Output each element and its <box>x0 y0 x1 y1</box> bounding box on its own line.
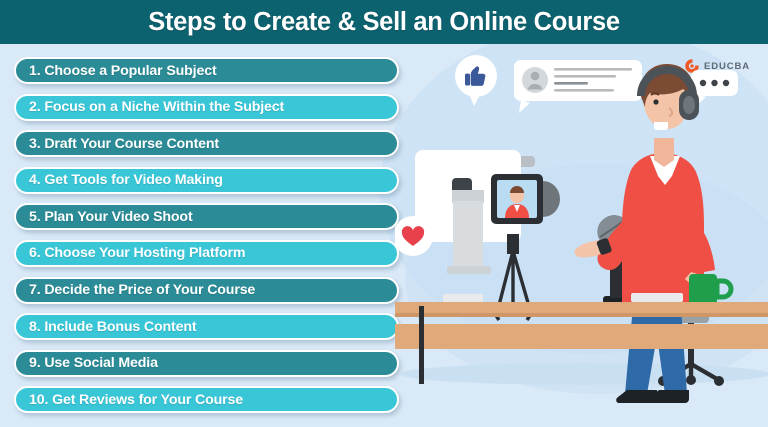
eye <box>653 99 658 104</box>
illustration-svg <box>395 44 768 427</box>
floor-shadow <box>400 363 768 385</box>
step-label: 6. Choose Your Hosting Platform <box>29 245 245 261</box>
step-label: 9. Use Social Media <box>29 355 158 371</box>
desk-leg-left <box>419 306 424 384</box>
steps-list: 1. Choose a Popular Subject 2. Focus on … <box>14 57 399 413</box>
comment-card <box>514 60 642 113</box>
mouth <box>654 122 668 130</box>
step-item-9[interactable]: 9. Use Social Media <box>14 350 399 377</box>
step-label: 4. Get Tools for Video Making <box>29 172 223 188</box>
ellipsis-icon <box>700 80 729 86</box>
step-item-10[interactable]: 10. Get Reviews for Your Course <box>14 386 399 413</box>
infographic-canvas: Steps to Create & Sell an Online Course … <box>0 0 768 427</box>
step-label: 3. Draft Your Course Content <box>29 136 219 152</box>
papers <box>443 294 483 302</box>
course-creator-illustration <box>395 44 768 427</box>
content-area: EDUCBA 1. Choose a Popular Subject 2. Fo… <box>0 44 768 427</box>
step-item-8[interactable]: 8. Include Bonus Content <box>14 313 399 340</box>
step-label: 8. Include Bonus Content <box>29 319 196 335</box>
step-label: 5. Plan Your Video Shoot <box>29 209 193 225</box>
step-label: 2. Focus on a Niche Within the Subject <box>29 99 284 115</box>
step-item-6[interactable]: 6. Choose Your Hosting Platform <box>14 240 399 267</box>
step-label: 10. Get Reviews for Your Course <box>29 392 243 408</box>
step-item-7[interactable]: 7. Decide the Price of Your Course <box>14 277 399 304</box>
step-item-4[interactable]: 4. Get Tools for Video Making <box>14 167 399 194</box>
keyboard <box>631 293 683 302</box>
step-item-1[interactable]: 1. Choose a Popular Subject <box>14 57 399 84</box>
step-label: 1. Choose a Popular Subject <box>29 63 217 79</box>
heart-bubble <box>395 212 436 256</box>
mug-icon <box>689 274 731 306</box>
step-label: 7. Decide the Price of Your Course <box>29 282 255 298</box>
camera-tripod <box>491 174 560 320</box>
step-item-2[interactable]: 2. Focus on a Niche Within the Subject <box>14 94 399 121</box>
page-title: Steps to Create & Sell an Online Course <box>148 8 620 37</box>
header-bar: Steps to Create & Sell an Online Course <box>0 0 768 44</box>
step-item-5[interactable]: 5. Plan Your Video Shoot <box>14 203 399 230</box>
thumbs-up-bubble <box>455 55 497 106</box>
step-item-3[interactable]: 3. Draft Your Course Content <box>14 130 399 157</box>
